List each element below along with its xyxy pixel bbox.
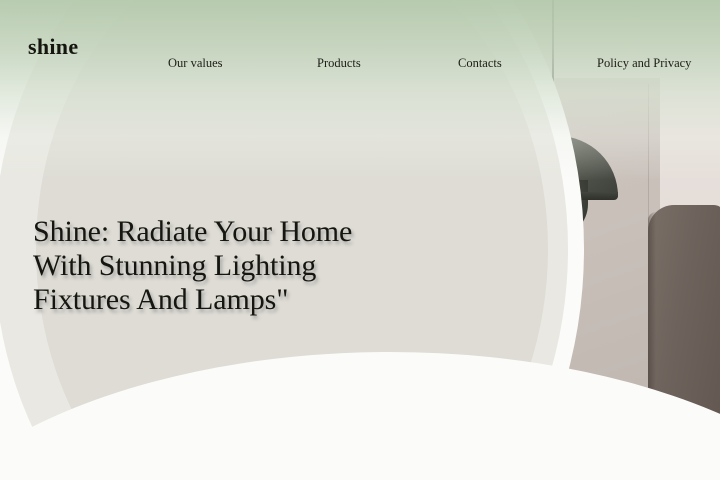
main-navigation: Our values Products Contacts Policy and … [0,56,720,74]
bubble-candle [574,394,634,442]
classical-bust-sculpture [467,288,539,438]
nav-products[interactable]: Products [317,56,361,71]
site-header: shine Our values Products Contacts Polic… [0,0,720,92]
nav-policy-and-privacy[interactable]: Policy and Privacy [597,56,691,71]
headline-line-1: Shine: Radiate Your Home [33,215,433,249]
nav-contacts[interactable]: Contacts [458,56,502,71]
headline-line-3: Fixtures And Lamps" [33,283,433,317]
nav-our-values[interactable]: Our values [168,56,223,71]
bust-pedestal [481,392,525,438]
headline-line-2: With Stunning Lighting [33,249,433,283]
hero-headline: Shine: Radiate Your Home With Stunning L… [33,215,433,317]
hero-page: shine Our values Products Contacts Polic… [0,0,720,480]
candle-bubble [613,420,628,435]
pendant-lamp-rim [490,192,618,200]
bust-necklace [489,346,516,355]
